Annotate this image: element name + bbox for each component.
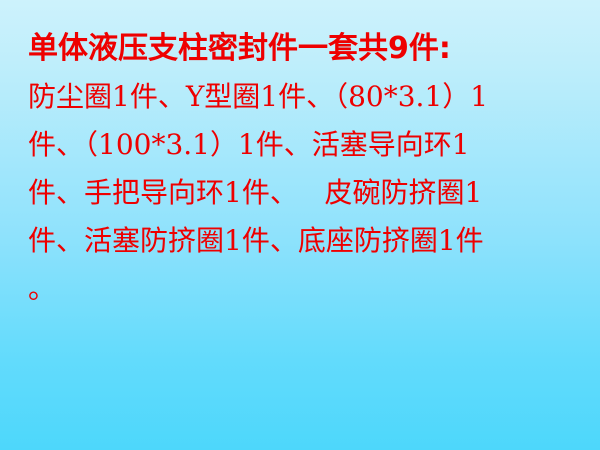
- slide-body-line-5: 。: [28, 275, 576, 317]
- slide-body-line-1: 防尘圈1件、Y型圈1件、（80*3.1）1: [28, 83, 576, 125]
- slide-title: 单体液压支柱密封件一套共9件:: [28, 34, 576, 70]
- slide-canvas: 单体液压支柱密封件一套共9件: 防尘圈1件、Y型圈1件、（80*3.1）1 件、…: [0, 0, 600, 450]
- slide-text-block: 单体液压支柱密封件一套共9件: 防尘圈1件、Y型圈1件、（80*3.1）1 件、…: [28, 34, 576, 323]
- slide-body-line-3: 件、手把导向环1件、 皮碗防挤圈1: [28, 179, 576, 221]
- slide-body-line-4: 件、活塞防挤圈1件、底座防挤圈1件: [28, 227, 576, 269]
- slide-body-line-2: 件、（100*3.1）1件、活塞导向环1: [28, 131, 576, 173]
